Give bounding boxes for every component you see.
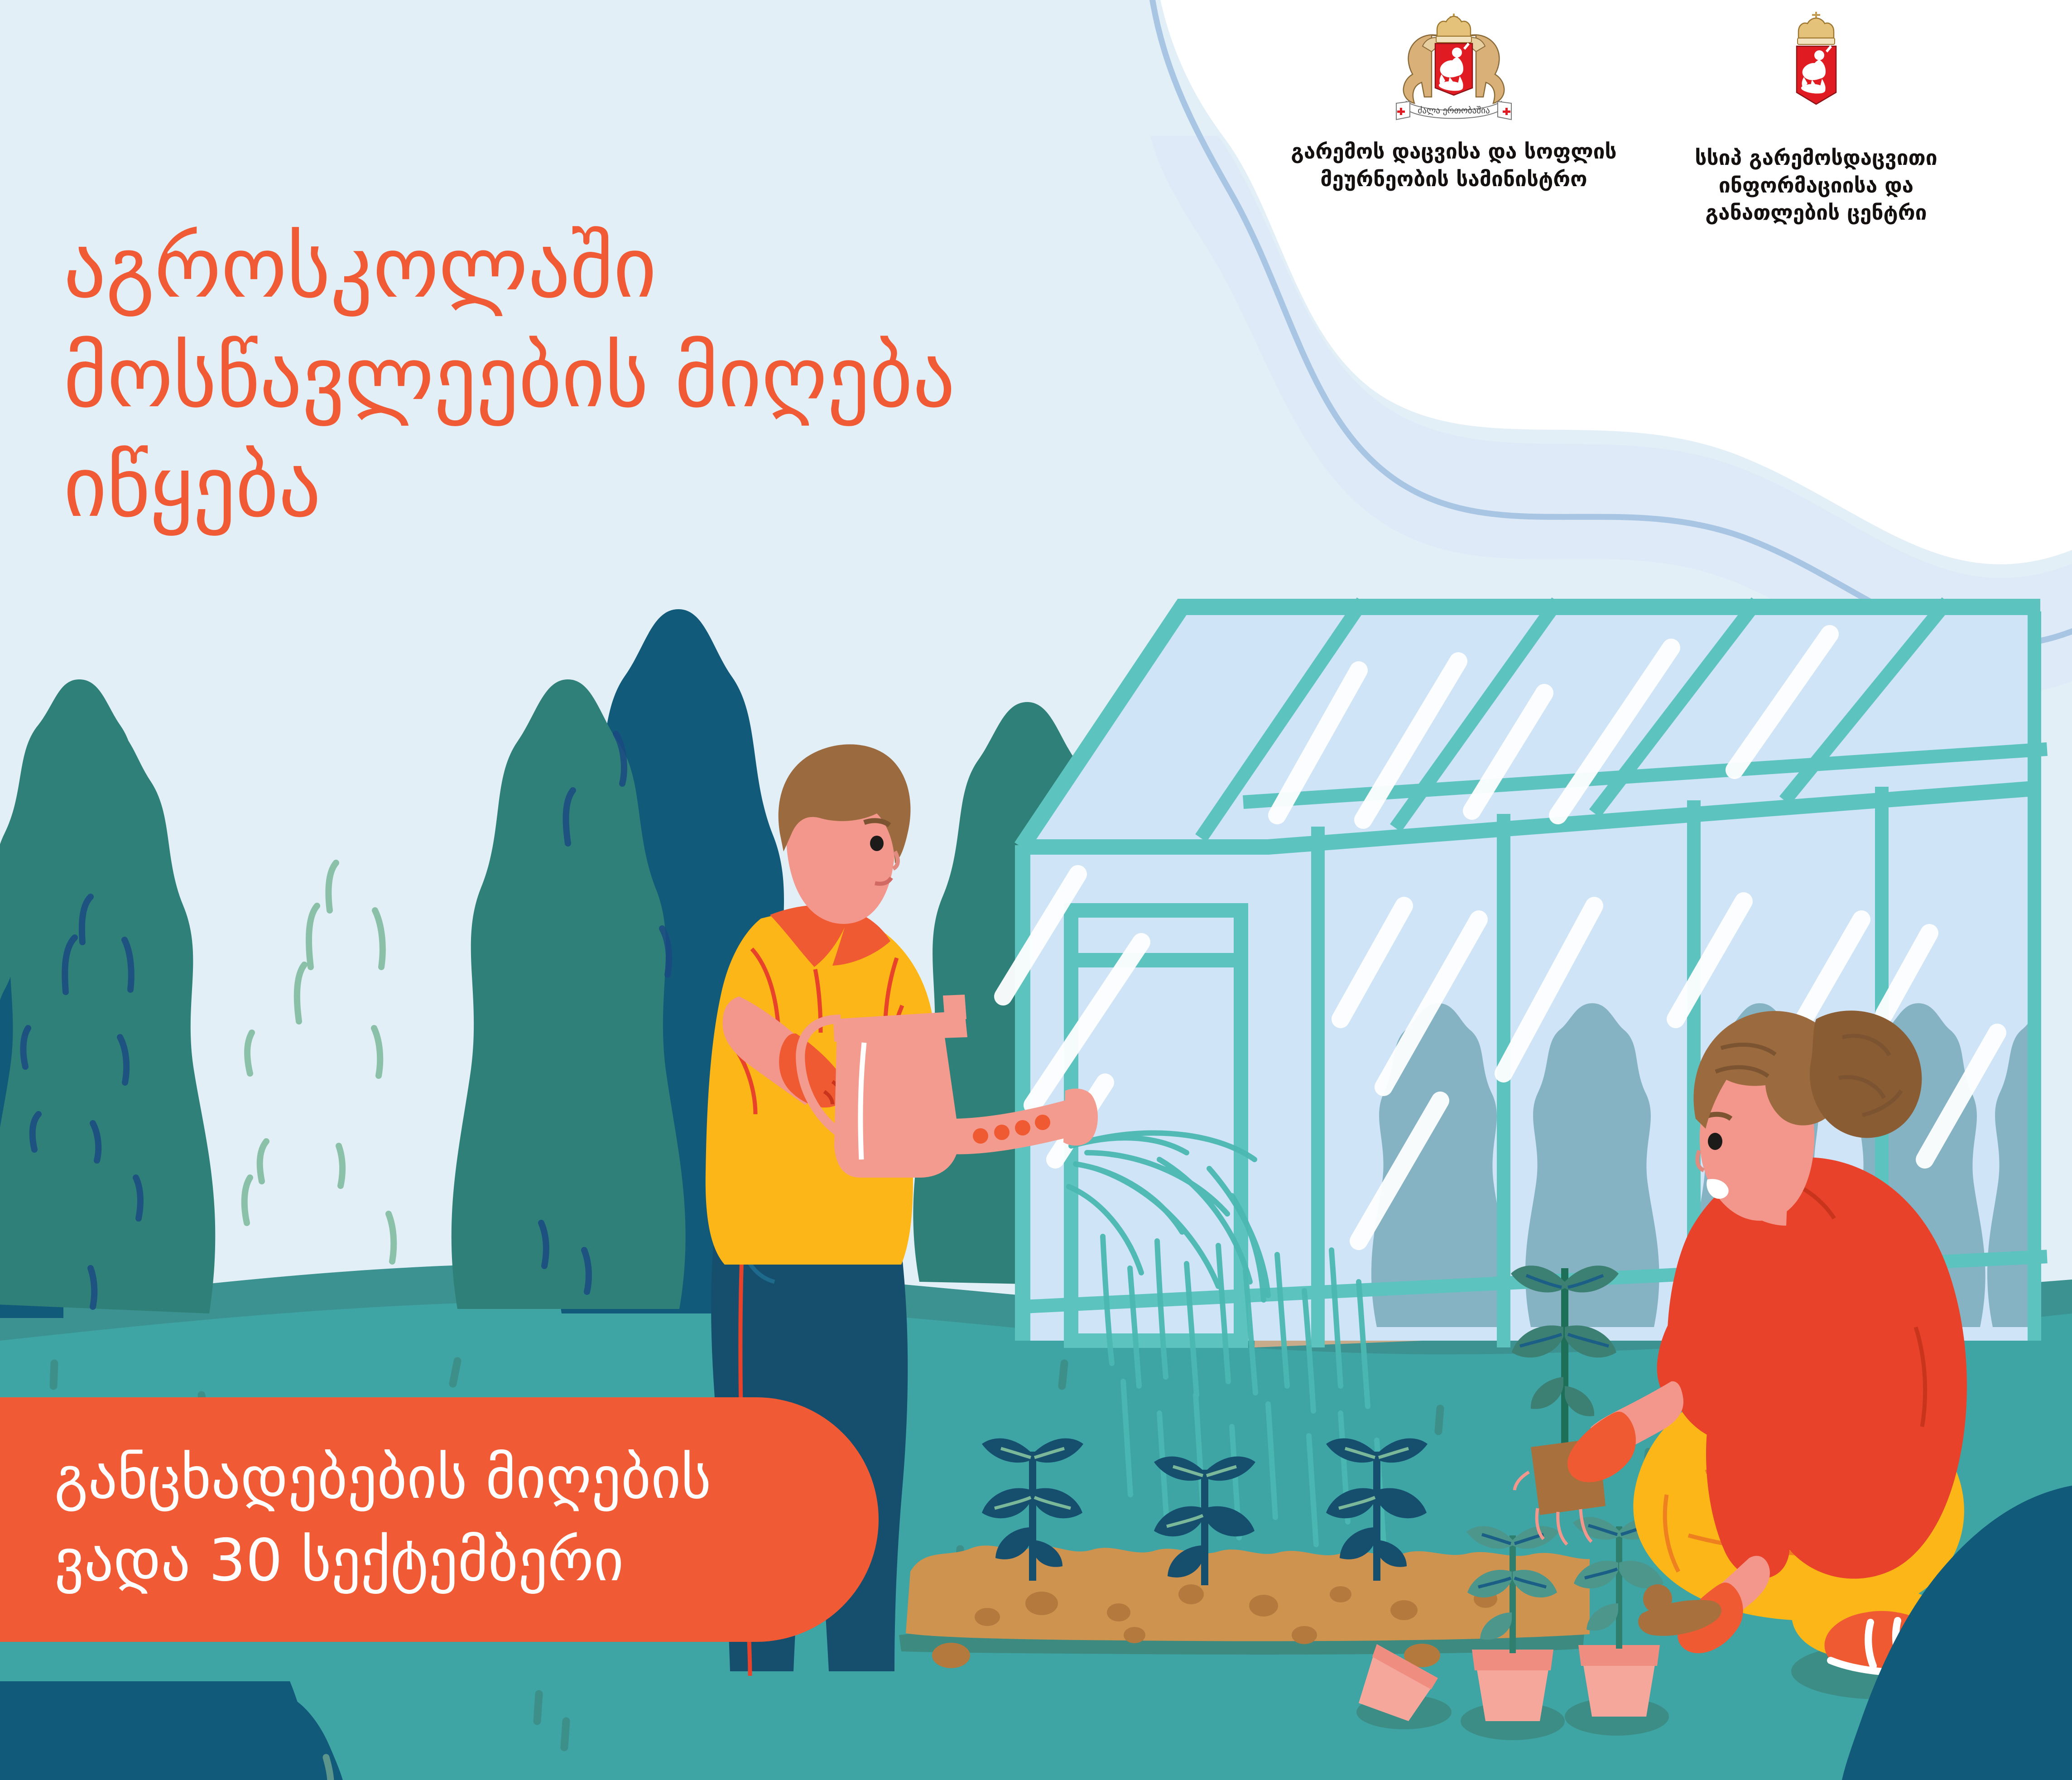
poster-root: განცხადებების მიღების ვადა 30 სექტემბერი…	[0, 0, 2072, 1780]
page-title: აგროსკოლაში მოსწავლეების მიღება იწყება	[63, 213, 1196, 541]
georgia-shield-crown-icon	[1671, 8, 1961, 130]
ministry-logo-caption: გარემოს დაცვისა და სოფლის მეურნეობის სამ…	[1282, 138, 1626, 192]
coat-of-arms-motto: ძალა ერთობაშია	[1418, 106, 1490, 115]
watering-can-body	[834, 1018, 959, 1178]
georgia-coat-of-arms-icon: ძალა ერთობაშია	[1282, 8, 1626, 130]
center-logo-block: სსიპ გარემოსდაცვითი ინფორმაციისა და განა…	[1671, 8, 1961, 226]
eye	[870, 836, 884, 851]
watering-can-rose	[1063, 1089, 1098, 1146]
eye	[1708, 1133, 1722, 1150]
soil-lump	[1643, 1584, 1672, 1613]
deadline-banner-text: განცხადებების მიღების ვადა 30 სექტემბერი	[54, 1437, 797, 1602]
deadline-banner: განცხადებების მიღების ვადა 30 სექტემბერი	[0, 1397, 879, 1642]
ministry-logo-block: ძალა ერთობაშია გარემოს დაცვისა და სოფლის…	[1282, 8, 1626, 192]
watering-can-cap	[943, 995, 966, 1020]
header-logos: ძალა ერთობაშია გარემოს დაცვისა და სოფლის…	[1282, 8, 1961, 244]
center-logo-caption: სსიპ გარემოსდაცვითი ინფორმაციისა და განა…	[1671, 144, 1961, 226]
